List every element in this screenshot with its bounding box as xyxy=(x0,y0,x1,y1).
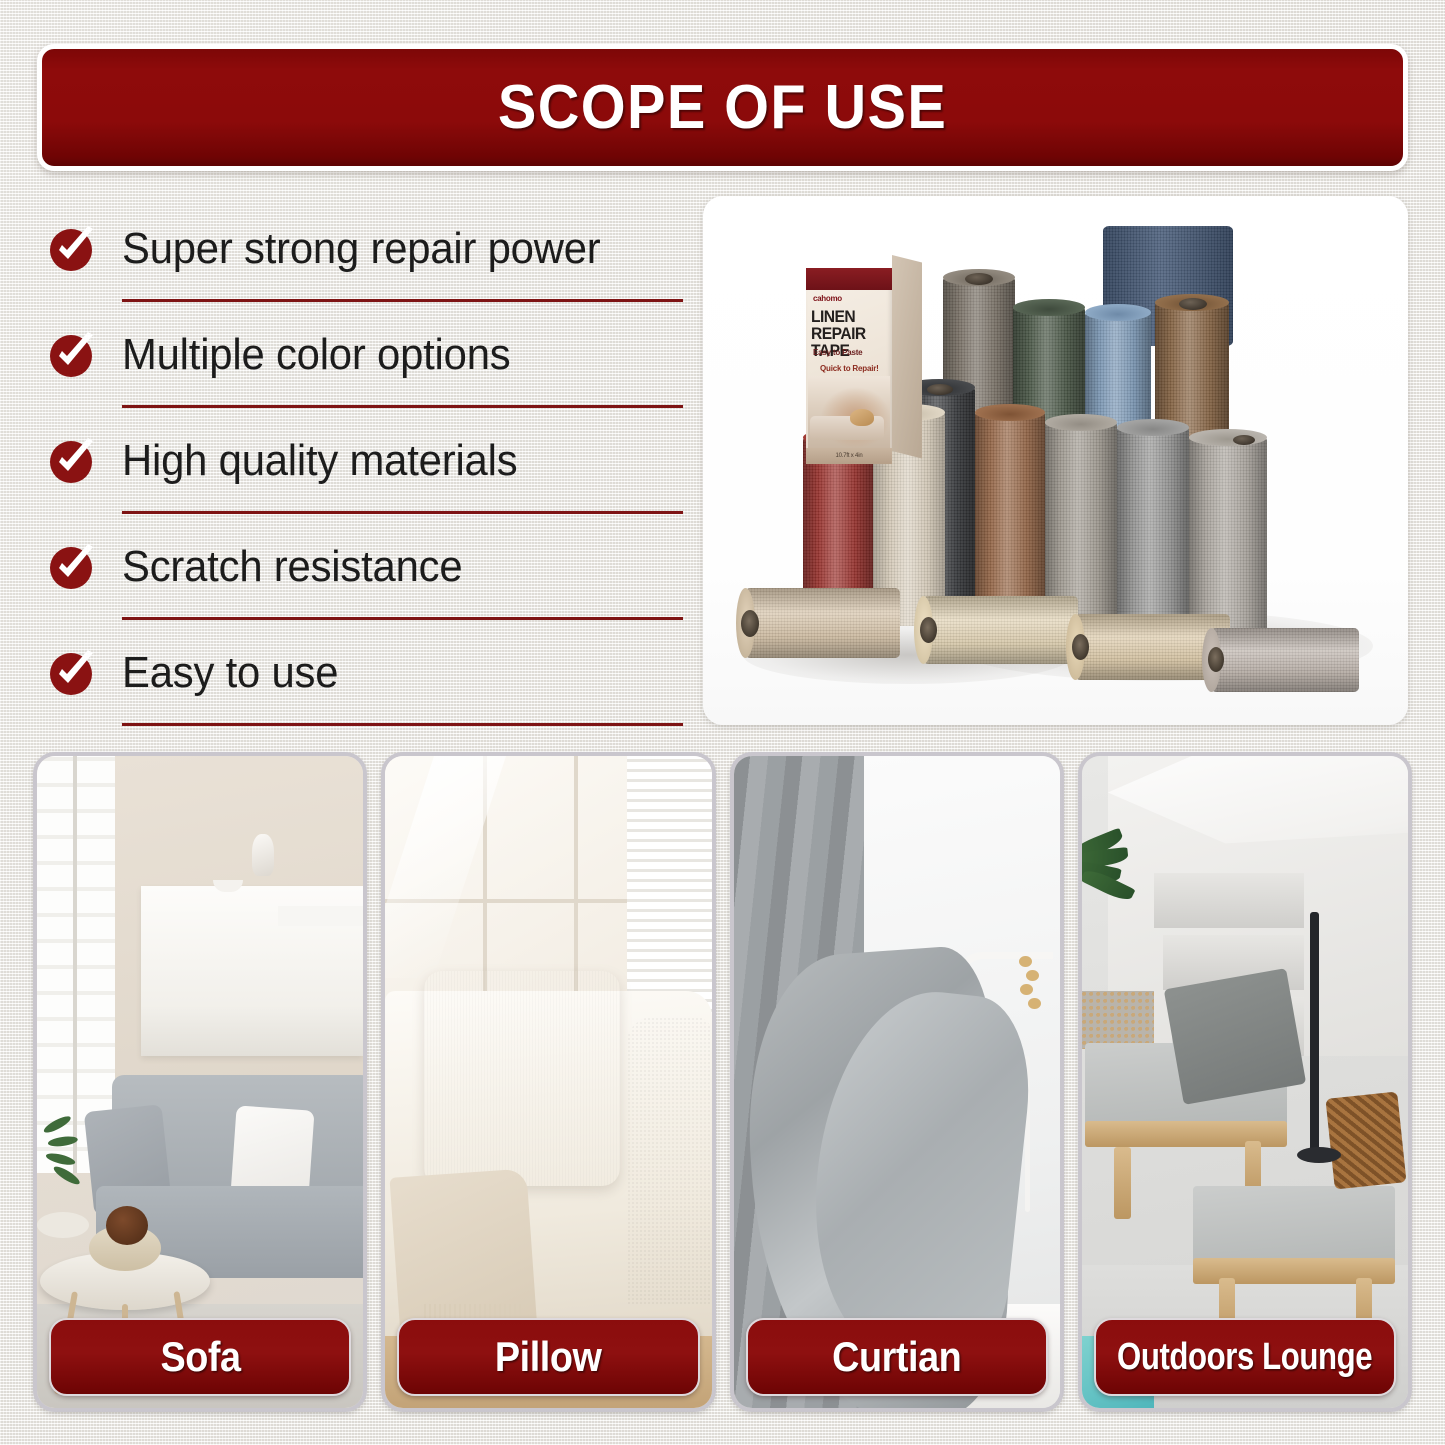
scene-pillow-chair xyxy=(385,756,711,1408)
use-case-card-pillow[interactable]: Pillow xyxy=(381,752,715,1412)
use-case-card-outdoors-lounge[interactable]: Outdoors Lounge xyxy=(1078,752,1412,1412)
box-side-face xyxy=(892,255,922,458)
check-circle-icon xyxy=(48,649,96,697)
wicker-pillow xyxy=(1325,1092,1406,1190)
umbrella-pole xyxy=(1310,912,1319,1160)
page-title-banner: SCOPE OF USE xyxy=(37,44,1408,171)
tape-roll-lying-greige xyxy=(1211,628,1359,692)
card-label-outdoors-lounge: Outdoors Lounge xyxy=(1094,1318,1396,1396)
gravel-bed xyxy=(1082,991,1154,1050)
use-case-card-sofa[interactable]: Sofa xyxy=(33,752,367,1412)
brand-logo: cahomo xyxy=(813,294,842,303)
check-circle-icon xyxy=(48,331,96,379)
side-table xyxy=(37,1212,89,1238)
wall-shelf xyxy=(278,906,363,926)
potted-plant xyxy=(44,1121,99,1212)
lounge-chair-leg xyxy=(1114,1147,1130,1219)
check-circle-icon xyxy=(48,543,96,591)
feature-item: Super strong repair power xyxy=(40,196,685,302)
feature-item: High quality materials xyxy=(40,408,685,514)
card-label-text: Outdoors Lounge xyxy=(1117,1336,1372,1379)
linen-pillow xyxy=(424,971,620,1186)
chair-armrest xyxy=(627,1017,712,1304)
box-size-note: 10.7ft x 4in xyxy=(806,448,892,464)
tape-roll-lying-beige xyxy=(745,588,900,658)
box-front-face: cahomo LINEN REPAIR TAPE Easy to Paste Q… xyxy=(806,268,892,464)
window-frame xyxy=(73,756,77,1173)
box-tagline-2: Quick to Repair! xyxy=(820,364,879,373)
lounge-chair-backrest xyxy=(1164,968,1306,1105)
card-label-sofa: Sofa xyxy=(49,1318,351,1396)
scene-poolside-lounge xyxy=(1082,756,1408,1408)
feature-divider xyxy=(122,723,683,726)
feature-list: Super strong repair power Multiple color… xyxy=(40,196,685,726)
box-tagline-1: Easy to Paste xyxy=(813,348,862,357)
tape-roll-lying-sand xyxy=(923,596,1078,664)
page-title: SCOPE OF USE xyxy=(498,72,947,143)
check-circle-icon xyxy=(48,437,96,485)
card-label-curtain: Curtian xyxy=(746,1318,1048,1396)
decor-pinecones xyxy=(106,1206,148,1245)
feature-label: Multiple color options xyxy=(122,330,510,380)
tape-roll-grey xyxy=(1117,426,1189,636)
infographic-page: SCOPE OF USE Super strong repair power M… xyxy=(0,0,1445,1445)
card-label-text: Curtian xyxy=(832,1333,961,1381)
use-case-card-grid: Sofa Pillow xyxy=(33,752,1412,1412)
scene-curtain xyxy=(734,756,1060,1408)
feature-item: Scratch resistance xyxy=(40,514,685,620)
feature-label: Scratch resistance xyxy=(122,542,462,592)
product-photo-panel: cahomo LINEN REPAIR TAPE Easy to Paste Q… xyxy=(703,196,1408,725)
tape-roll-rust xyxy=(975,411,1045,616)
feature-label: Super strong repair power xyxy=(122,224,601,274)
decor-vase xyxy=(252,834,274,876)
card-label-text: Pillow xyxy=(495,1333,602,1381)
box-top-band xyxy=(806,268,892,290)
check-circle-icon xyxy=(48,225,96,273)
scene-living-room xyxy=(37,756,363,1408)
lounge-chair-cushion xyxy=(1193,1186,1395,1264)
use-case-card-curtain[interactable]: Curtian xyxy=(730,752,1064,1412)
banana-plant xyxy=(1082,821,1167,1017)
feature-item: Multiple color options xyxy=(40,302,685,408)
product-stage: cahomo LINEN REPAIR TAPE Easy to Paste Q… xyxy=(703,196,1408,725)
card-label-pillow: Pillow xyxy=(397,1318,699,1396)
card-label-text: Sofa xyxy=(160,1333,240,1381)
box-photo-dog xyxy=(850,409,874,426)
feature-label: Easy to use xyxy=(122,648,338,698)
feature-item: Easy to use xyxy=(40,620,685,726)
box-photo xyxy=(808,376,890,448)
feature-label: High quality materials xyxy=(122,436,517,486)
